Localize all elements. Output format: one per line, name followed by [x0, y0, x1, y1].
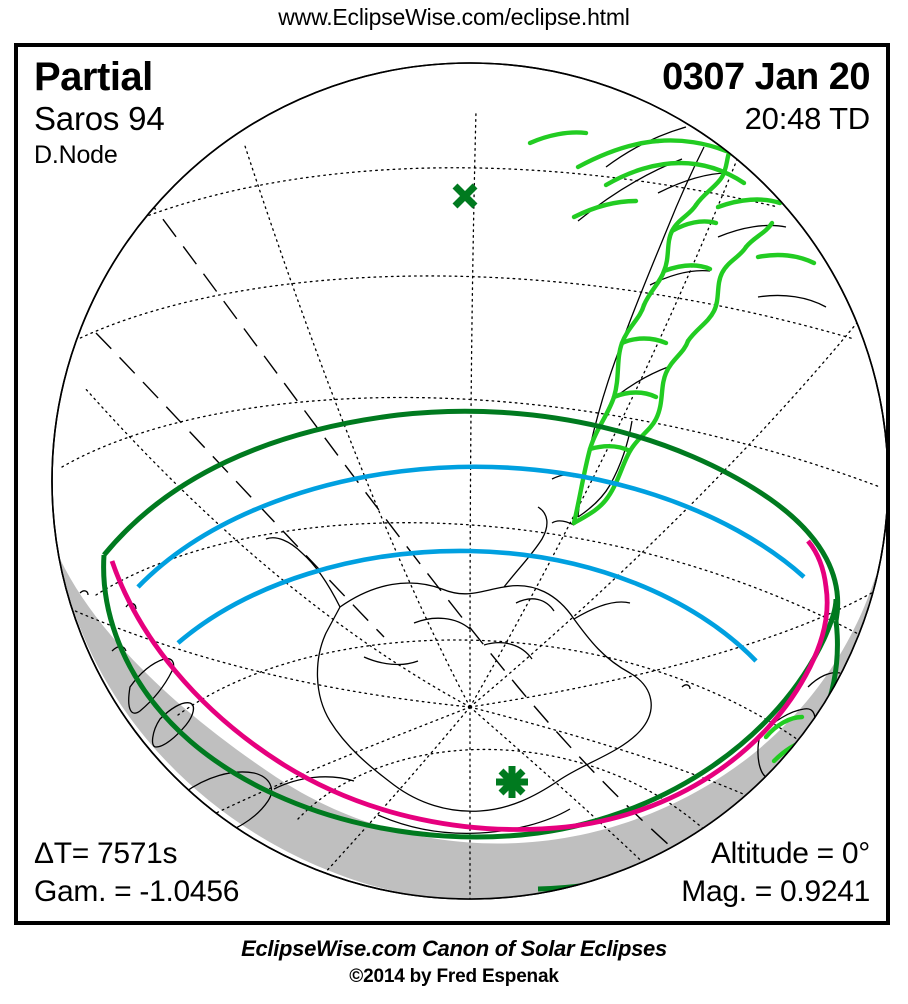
saros-label: Saros 94	[34, 99, 164, 139]
eclipse-time-label: 20:48 TD	[662, 99, 870, 139]
header-left-block: Partial Saros 94 D.Node	[34, 55, 164, 172]
eclipse-map-frame: Partial Saros 94 D.Node 0307 Jan 20 20:4…	[14, 43, 890, 925]
eclipse-type-label: Partial	[34, 55, 164, 99]
node-label: D.Node	[34, 139, 164, 172]
copyright-line: ©2014 by Fred Espenak	[0, 966, 908, 988]
eclipse-diagram-page: www.EclipseWise.com/eclipse.html	[0, 0, 908, 1004]
header-right-block: 0307 Jan 20 20:48 TD	[662, 55, 870, 139]
source-url: www.EclipseWise.com/eclipse.html	[0, 4, 908, 31]
altitude-value: Altitude = 0°	[681, 835, 870, 873]
footer-left-block: ΔT= 7571s Gam. = -1.0456	[34, 835, 239, 911]
eclipse-date-label: 0307 Jan 20	[662, 55, 870, 99]
canon-title: EclipseWise.com Canon of Solar Eclipses	[0, 936, 908, 962]
gamma-value: Gam. = -1.0456	[34, 873, 239, 911]
delta-t-value: ΔT= 7571s	[34, 835, 239, 873]
magnitude-value: Mag. = 0.9241	[681, 873, 870, 911]
footer-right-block: Altitude = 0° Mag. = 0.9241	[681, 835, 870, 911]
globe-map	[18, 47, 886, 921]
